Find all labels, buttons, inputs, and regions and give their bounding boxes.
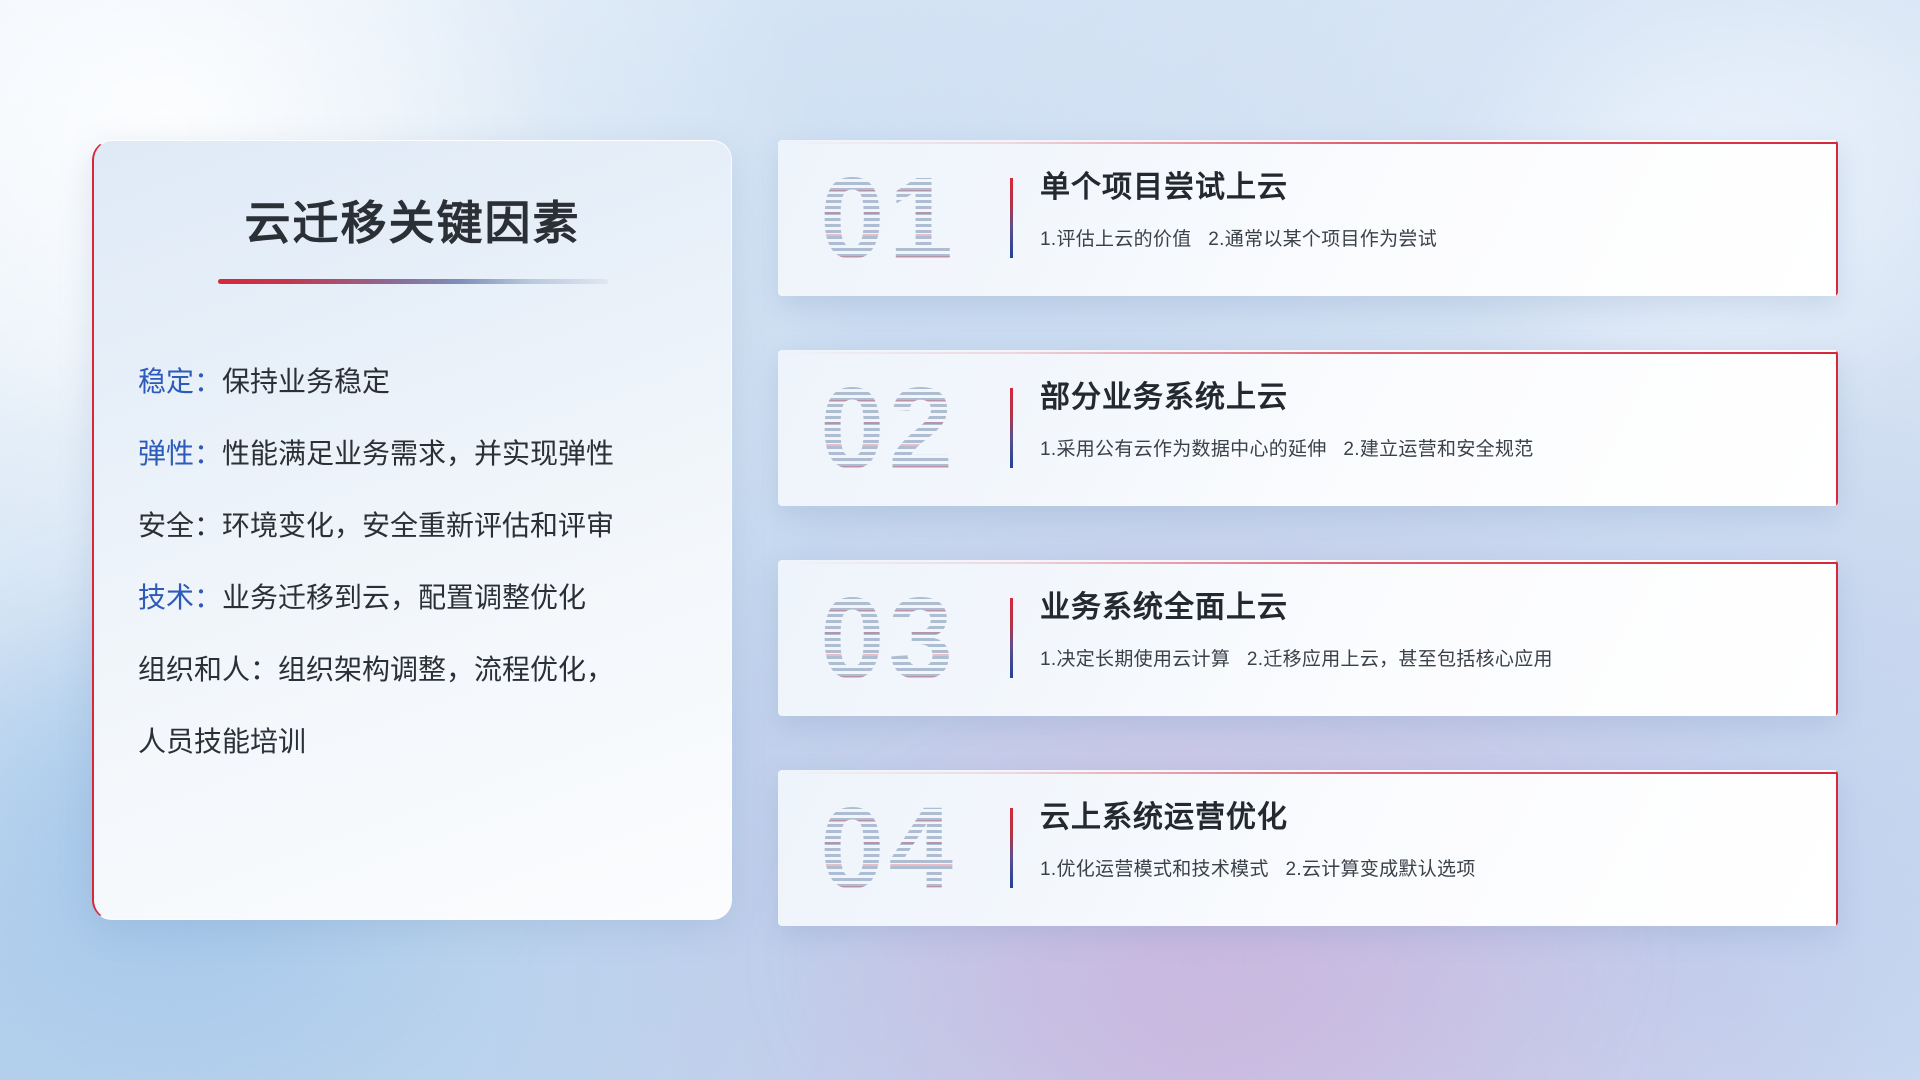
key-factor-text: 组织架构调整，流程优化， [278, 654, 614, 685]
stage-card[interactable]: 0404云上系统运营优化1.优化运营模式和技术模式 2.云计算变成默认选项 [778, 770, 1838, 926]
key-factors-panel: 云迁移关键因素 稳定：保持业务稳定弹性：性能满足业务需求，并实现弹性安全：环境变… [92, 140, 732, 920]
key-factor-text: 性能满足业务需求，并实现弹性 [222, 438, 614, 469]
stage-card[interactable]: 0202部分业务系统上云1.采用公有云作为数据中心的延伸 2.建立运营和安全规范 [778, 350, 1838, 506]
key-factor-label: 弹性： [138, 438, 222, 469]
stage-accent-divider [1010, 808, 1013, 888]
key-factor-row: 人员技能培训 [138, 728, 731, 756]
key-factor-row: 安全：环境变化，安全重新评估和评审 [138, 512, 731, 540]
key-factor-label: 稳定： [138, 366, 222, 397]
stage-title: 业务系统全面上云 [1040, 590, 1814, 626]
key-factor-label: 组织和人： [138, 654, 278, 685]
stage-number-watermark-tint: 04 [820, 776, 990, 920]
key-factor-row: 技术：业务迁移到云，配置调整优化 [138, 584, 731, 612]
key-factor-label: 技术： [138, 582, 222, 613]
stage-title: 云上系统运营优化 [1040, 800, 1814, 836]
stage-title: 单个项目尝试上云 [1040, 170, 1814, 206]
stage-number-watermark-tint: 03 [820, 566, 990, 710]
key-factor-text: 业务迁移到云，配置调整优化 [222, 582, 586, 613]
key-factor-text: 环境变化，安全重新评估和评审 [222, 510, 614, 541]
key-factor-text: 保持业务稳定 [222, 366, 390, 397]
stage-card[interactable]: 0303业务系统全面上云1.决定长期使用云计算 2.迁移应用上云，甚至包括核心应… [778, 560, 1838, 716]
key-factors-list: 稳定：保持业务稳定弹性：性能满足业务需求，并实现弹性安全：环境变化，安全重新评估… [138, 368, 731, 756]
stages-card-list: 0101单个项目尝试上云1.评估上云的价值 2.通常以某个项目作为尝试0202部… [778, 140, 1838, 980]
stage-title: 部分业务系统上云 [1040, 380, 1814, 416]
key-factor-row: 稳定：保持业务稳定 [138, 368, 731, 396]
stage-description: 1.采用公有云作为数据中心的延伸 2.建立运营和安全规范 [1040, 434, 1814, 461]
stage-card-body: 云上系统运营优化1.优化运营模式和技术模式 2.云计算变成默认选项 [1040, 800, 1814, 881]
stage-card-body: 单个项目尝试上云1.评估上云的价值 2.通常以某个项目作为尝试 [1040, 170, 1814, 251]
key-factor-row: 组织和人：组织架构调整，流程优化， [138, 656, 731, 684]
stage-description: 1.优化运营模式和技术模式 2.云计算变成默认选项 [1040, 854, 1814, 881]
stage-card[interactable]: 0101单个项目尝试上云1.评估上云的价值 2.通常以某个项目作为尝试 [778, 140, 1838, 296]
stage-description: 1.决定长期使用云计算 2.迁移应用上云，甚至包括核心应用 [1040, 644, 1814, 671]
stage-accent-divider [1010, 388, 1013, 468]
stage-accent-divider [1010, 598, 1013, 678]
stage-number-watermark-tint: 01 [820, 146, 990, 290]
title-underline-rule [218, 279, 608, 284]
page-title: 云迁移关键因素 [94, 187, 731, 253]
key-factor-row: 弹性：性能满足业务需求，并实现弹性 [138, 440, 731, 468]
stage-card-body: 部分业务系统上云1.采用公有云作为数据中心的延伸 2.建立运营和安全规范 [1040, 380, 1814, 461]
stage-accent-divider [1010, 178, 1013, 258]
stage-description: 1.评估上云的价值 2.通常以某个项目作为尝试 [1040, 224, 1814, 251]
key-factor-label: 安全： [138, 510, 222, 541]
key-factor-text: 人员技能培训 [138, 726, 306, 757]
stage-card-body: 业务系统全面上云1.决定长期使用云计算 2.迁移应用上云，甚至包括核心应用 [1040, 590, 1814, 671]
stage-number-watermark-tint: 02 [820, 356, 990, 500]
